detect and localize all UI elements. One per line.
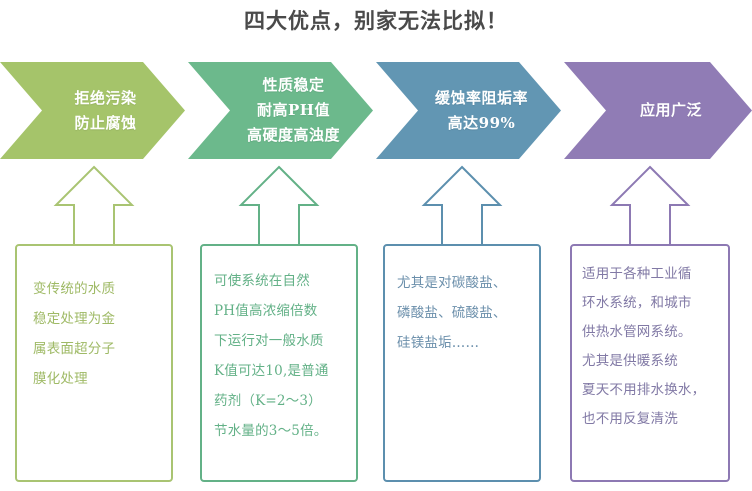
advantage-column-wide-application: 适用于各种工业循 环水系统，和城市 供热水管网系统。 尤其是供暖系统 夏天不用排… xyxy=(570,164,730,482)
banner-chevron-stable-property[interactable]: 性质稳定 耐高PH值 高硬度高浊度 xyxy=(188,62,373,159)
banner-chevron-wide-application[interactable]: 应用广泛 xyxy=(564,62,752,159)
detail-text-no-pollution: 变传统的水质 稳定处理为金 属表面超分子 膜化处理 xyxy=(17,246,171,394)
advantage-column-high-efficiency: 尤其是对碳酸盐、 磷酸盐、硫酸盐、 硅镁盐垢…… xyxy=(383,164,541,482)
banner-label-no-pollution: 拒绝污染 防止腐蚀 xyxy=(74,86,136,136)
banner-chevron-high-efficiency[interactable]: 缓蚀率阻垢率 高达99% xyxy=(376,62,561,159)
banner-chevron-no-pollution[interactable]: 拒绝污染 防止腐蚀 xyxy=(0,62,185,159)
advantage-column-no-pollution: 变传统的水质 稳定处理为金 属表面超分子 膜化处理 xyxy=(15,164,173,482)
detail-box-no-pollution: 变传统的水质 稳定处理为金 属表面超分子 膜化处理 xyxy=(15,244,173,482)
banner-label-high-efficiency: 缓蚀率阻垢率 高达99% xyxy=(435,86,528,136)
up-arrow-icon-4 xyxy=(570,164,730,248)
up-arrow-icon-3 xyxy=(383,164,541,248)
banner-label-wide-application: 应用广泛 xyxy=(640,98,702,123)
page-title: 四大优点，别家无法比拟！ xyxy=(0,5,752,35)
banner-label-stable-property: 性质稳定 耐高PH值 高硬度高浊度 xyxy=(247,73,340,148)
connector-arrow-wrap-3 xyxy=(383,164,541,246)
advantage-banner-row: 拒绝污染 防止腐蚀 性质稳定 耐高PH值 高硬度高浊度 缓蚀率阻垢率 高达99%… xyxy=(0,62,752,159)
advantage-column-stable-property: 可使系统在自然 PH值高浓缩倍数 下运行对一般水质 K值可达10,是普通 药剂（… xyxy=(200,164,358,482)
detail-box-stable-property: 可使系统在自然 PH值高浓缩倍数 下运行对一般水质 K值可达10,是普通 药剂（… xyxy=(200,244,358,482)
detail-box-high-efficiency: 尤其是对碳酸盐、 磷酸盐、硫酸盐、 硅镁盐垢…… xyxy=(383,244,541,482)
up-arrow-icon-2 xyxy=(200,164,358,248)
detail-box-wide-application: 适用于各种工业循 环水系统，和城市 供热水管网系统。 尤其是供暖系统 夏天不用排… xyxy=(570,244,730,482)
connector-arrow-wrap-4 xyxy=(570,164,730,246)
detail-text-stable-property: 可使系统在自然 PH值高浓缩倍数 下运行对一般水质 K值可达10,是普通 药剂（… xyxy=(202,246,356,446)
connector-arrow-wrap-1 xyxy=(15,164,173,246)
detail-text-high-efficiency: 尤其是对碳酸盐、 磷酸盐、硫酸盐、 硅镁盐垢…… xyxy=(385,246,539,358)
connector-arrow-wrap-2 xyxy=(200,164,358,246)
up-arrow-icon-1 xyxy=(15,164,173,248)
detail-text-wide-application: 适用于各种工业循 环水系统，和城市 供热水管网系统。 尤其是供暖系统 夏天不用排… xyxy=(572,246,728,434)
